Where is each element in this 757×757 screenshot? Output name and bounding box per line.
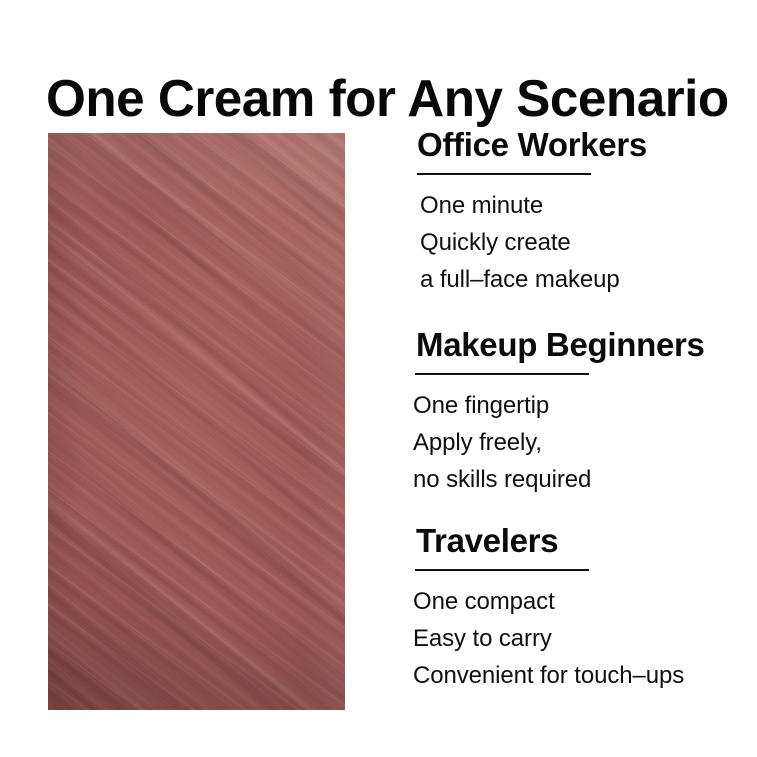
scenario-list: Office Workers One minute Quickly create…	[413, 126, 733, 694]
list-item: a full–face makeup	[413, 261, 733, 298]
product-swatch-image	[48, 133, 345, 710]
poster-canvas: One Cream for Any Scenario Office Worker…	[0, 0, 757, 757]
list-item: Easy to carry	[413, 620, 733, 657]
section-divider	[415, 569, 589, 571]
page-title: One Cream for Any Scenario	[46, 71, 726, 127]
section-heading-travelers: Travelers	[416, 522, 733, 560]
list-item: Quickly create	[413, 224, 733, 261]
list-item: One compact	[413, 583, 733, 620]
section-lines-makeup-beginners: One fingertip Apply freely, no skills re…	[413, 387, 733, 498]
swatch-vignette	[48, 133, 345, 710]
scenario-section-travelers: Travelers One compact Easy to carry Conv…	[413, 522, 733, 694]
scenario-section-office-workers: Office Workers One minute Quickly create…	[413, 126, 733, 298]
scenario-section-makeup-beginners: Makeup Beginners One fingertip Apply fre…	[413, 326, 733, 498]
list-item: One minute	[413, 187, 733, 224]
section-divider	[415, 373, 589, 375]
section-lines-office-workers: One minute Quickly create a full–face ma…	[413, 187, 733, 298]
list-item: One fingertip	[413, 387, 733, 424]
list-item: Convenient for touch–ups	[413, 657, 733, 694]
list-item: Apply freely,	[413, 424, 733, 461]
list-item: no skills required	[413, 461, 733, 498]
section-heading-makeup-beginners: Makeup Beginners	[416, 326, 733, 364]
section-divider	[417, 173, 591, 175]
section-lines-travelers: One compact Easy to carry Convenient for…	[413, 583, 733, 694]
section-heading-office-workers: Office Workers	[417, 126, 733, 164]
